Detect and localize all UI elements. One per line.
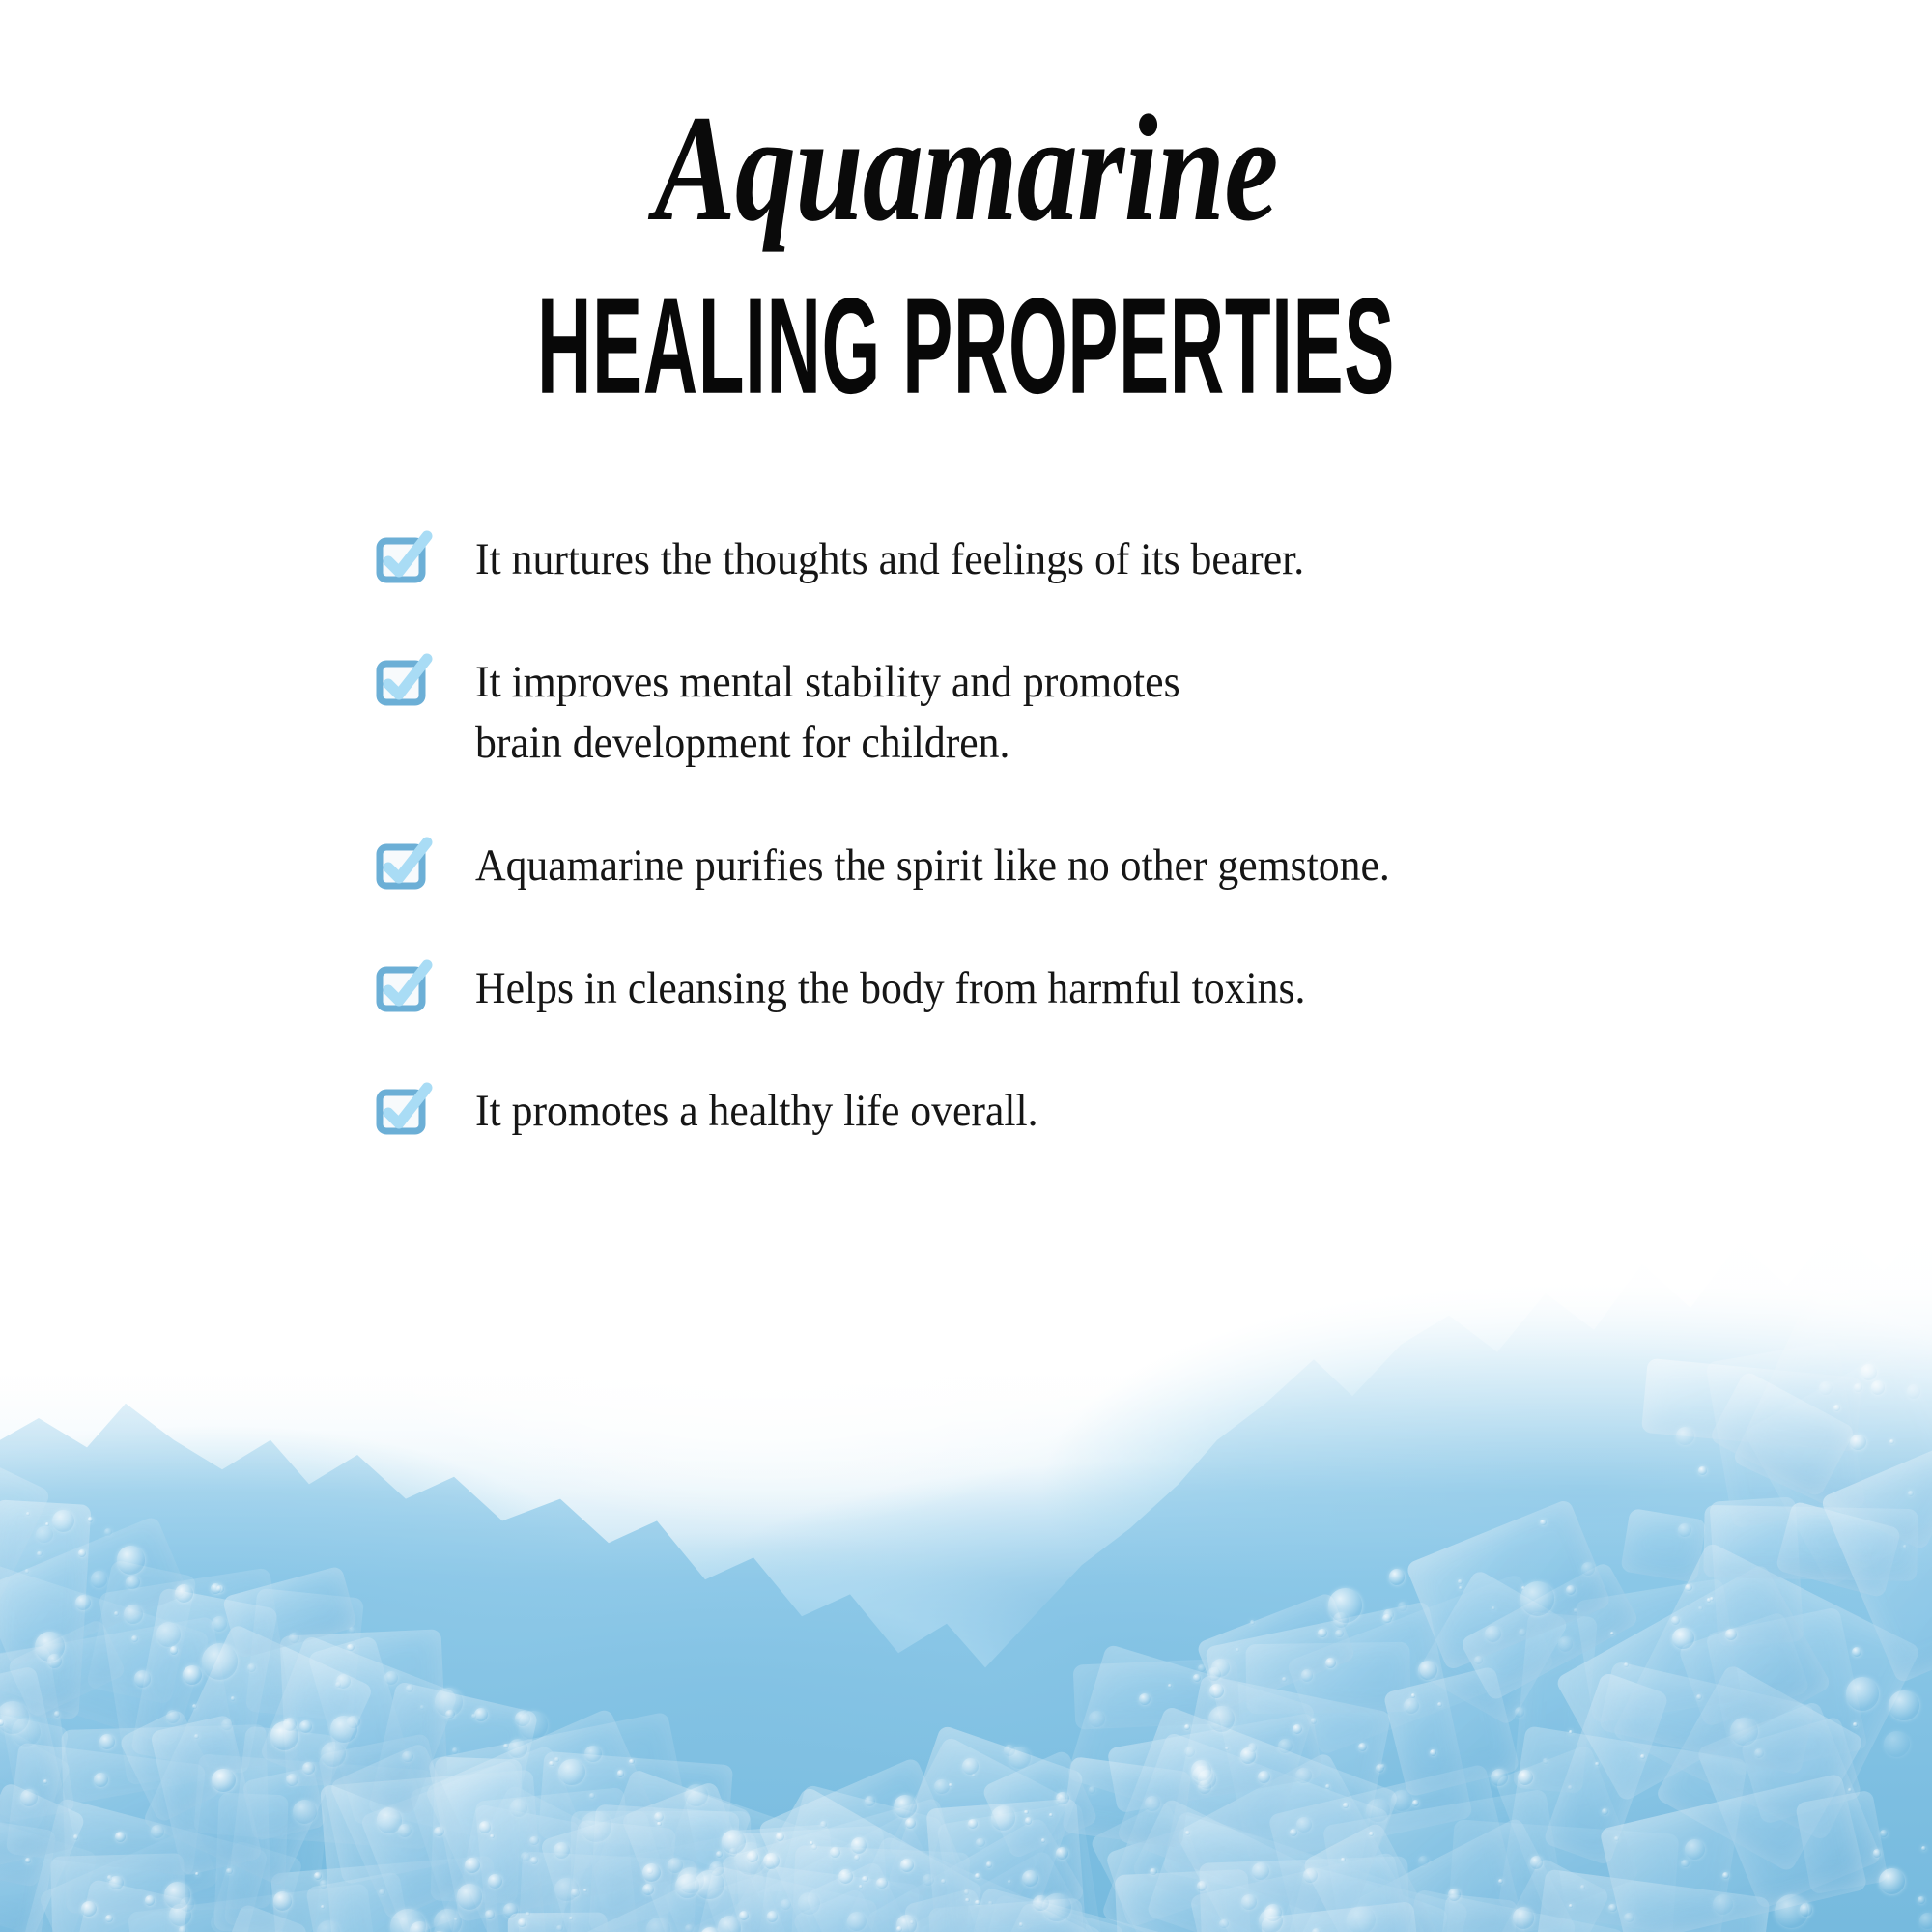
ice-bubble xyxy=(302,1762,315,1775)
ice-bubble xyxy=(1369,1832,1374,1836)
ice-bubble xyxy=(54,1711,61,1718)
poster-canvas: Aquamarine HEALING PROPERTIES It nurture… xyxy=(0,0,1932,1932)
ice-bubble xyxy=(1846,1677,1880,1711)
ice-bubble xyxy=(716,1851,723,1858)
ice-bubble xyxy=(685,1924,694,1932)
ice-bubble xyxy=(1022,1870,1038,1887)
ice-bubble xyxy=(289,1633,299,1643)
ice-bubble xyxy=(1671,1616,1680,1625)
ice-bubble xyxy=(1448,1889,1461,1901)
ice-bubble xyxy=(722,1830,746,1854)
ice-bubble xyxy=(900,1859,914,1872)
ice-bubble xyxy=(474,1708,488,1721)
ice-bubble xyxy=(1921,1846,1926,1851)
ice-bubble xyxy=(78,1549,86,1557)
list-item-label: Helps in cleansing the body from harmful… xyxy=(475,958,1305,1019)
ice-bubble xyxy=(286,1774,298,1786)
ice-bubble xyxy=(1219,1919,1229,1929)
ice-bubble xyxy=(923,1874,934,1886)
ice-bubble xyxy=(905,1818,916,1829)
ice-bubble xyxy=(1236,1648,1239,1652)
list-item-label: Aquamarine purifies the spirit like no o… xyxy=(475,836,1390,896)
ice-bubble xyxy=(1318,1629,1326,1637)
ice-bubble xyxy=(1624,1913,1634,1922)
ice-bubble xyxy=(12,1718,41,1747)
ice-bubble xyxy=(151,1825,164,1838)
healing-properties-list: It nurtures the thoughts and feelings of… xyxy=(377,529,1864,1142)
ice-bubble xyxy=(581,1811,611,1841)
ice-bubble xyxy=(1518,1770,1533,1785)
ice-bubble xyxy=(521,1852,529,1861)
ice-bubble xyxy=(1474,1656,1483,1664)
ice-bubble xyxy=(1290,1829,1297,1836)
ice-bubble xyxy=(145,1895,156,1906)
ice-bubble xyxy=(231,1696,236,1701)
ice-bubble xyxy=(1602,1808,1608,1815)
ice-bubble xyxy=(685,1784,708,1807)
ice-bubble xyxy=(739,1911,749,1920)
ice-bubble xyxy=(384,1671,398,1685)
ice-bubble xyxy=(1278,1739,1293,1753)
ice-bubble xyxy=(115,1832,126,1842)
ice-bubble xyxy=(170,1646,178,1654)
ice-bubble xyxy=(647,1868,653,1874)
ice-bubble xyxy=(212,1616,227,1632)
ice-bubble xyxy=(479,1821,492,1833)
ice-bubble xyxy=(1519,1629,1526,1636)
ice-bubble xyxy=(1259,1909,1283,1932)
ice-bubble xyxy=(1198,1664,1206,1672)
ice-bubble xyxy=(1041,1838,1045,1842)
ice-bubble xyxy=(1873,1849,1882,1858)
ice-bubble xyxy=(847,1912,867,1931)
ice-bubble xyxy=(1312,1928,1321,1932)
checkbox-checked-icon xyxy=(377,1085,431,1139)
ice-bubble xyxy=(862,1876,868,1883)
ice-bubble xyxy=(36,1526,53,1544)
ice-bubble xyxy=(554,1878,578,1901)
ice-bubble xyxy=(510,1799,527,1816)
ice-bubble xyxy=(1382,1614,1391,1623)
ice-bubble xyxy=(1089,1786,1096,1794)
ice-bubble xyxy=(519,1711,548,1740)
ice-bubble xyxy=(1730,1718,1758,1746)
ice-bubble xyxy=(195,1872,199,1876)
ice-bubble xyxy=(1566,1585,1576,1595)
ice-bubble xyxy=(349,1627,355,1634)
list-item: Helps in cleansing the body from harmful… xyxy=(377,958,1864,1019)
ice-bubble xyxy=(1185,1831,1190,1835)
ice-bubble xyxy=(105,1915,113,1922)
ice-bubble xyxy=(1458,1579,1463,1584)
ice-bubble xyxy=(556,1925,562,1931)
ice-bubble xyxy=(221,1719,233,1731)
ice-bubble xyxy=(859,1885,863,1889)
ice-bubble xyxy=(1853,1722,1857,1726)
ice-bubble xyxy=(1833,1405,1840,1411)
ice-bubble xyxy=(617,1770,625,1777)
ice-bubble xyxy=(20,1789,39,1807)
ice-bubble xyxy=(1250,1620,1255,1625)
ice-bubble xyxy=(1595,1762,1600,1767)
ice-bubble xyxy=(321,1905,325,1909)
ice-bubble xyxy=(646,1918,670,1932)
ice-bubble xyxy=(156,1622,181,1646)
ice-bubble xyxy=(1296,1817,1312,1833)
ice-bubble xyxy=(212,1769,236,1793)
ice-bubble xyxy=(1530,1856,1544,1869)
ice-bubble xyxy=(134,1670,151,1687)
ice-bubble xyxy=(1311,1718,1317,1723)
ice-bubble xyxy=(270,1721,298,1749)
ice-bubble xyxy=(1042,1893,1071,1922)
ice-bubble xyxy=(1498,1879,1503,1884)
ice-bubble xyxy=(104,1528,112,1536)
ice-bubble xyxy=(549,1761,554,1767)
page-header: Aquamarine HEALING PROPERTIES xyxy=(0,93,1932,400)
ice-bubble xyxy=(273,1891,292,1910)
ice-bubble xyxy=(569,1917,573,1920)
ice-bubble xyxy=(1880,1830,1888,1837)
ice-bubble xyxy=(1819,1381,1833,1395)
ice-bubble xyxy=(811,1844,817,1850)
ice-bubble xyxy=(465,1858,480,1873)
ice-bubble xyxy=(1150,1868,1156,1875)
ice-bubble xyxy=(975,1900,980,1906)
ice-bubble xyxy=(293,1800,317,1824)
ice-bubble xyxy=(934,1779,950,1795)
ice-bubble xyxy=(988,1901,993,1906)
ice-bubble xyxy=(117,1546,145,1574)
ice-bubble xyxy=(88,1517,94,1522)
ice-bubble xyxy=(1713,1894,1733,1915)
ice-bubble xyxy=(247,1663,256,1672)
ice-bubble xyxy=(518,1918,526,1927)
ice-bubble xyxy=(1282,1677,1287,1682)
ice-bubble xyxy=(965,1898,970,1903)
ice-bubble xyxy=(490,1834,494,1838)
ice-bubble xyxy=(894,1795,917,1818)
ice-bubble xyxy=(1459,1586,1463,1590)
ice-bubble xyxy=(1879,1868,1905,1894)
ice-bubble xyxy=(1168,1684,1172,1688)
ice-bubble xyxy=(1681,1860,1689,1867)
ice-bubble xyxy=(964,1889,970,1895)
checkbox-checked-icon xyxy=(377,839,431,894)
ice-bubble xyxy=(629,1759,635,1765)
ice-bubble xyxy=(668,1858,683,1873)
ice-bubble xyxy=(949,1783,953,1788)
ice-bubble xyxy=(854,1855,860,1861)
ice-bubble xyxy=(976,1838,984,1847)
ice-bubble xyxy=(986,1861,993,1868)
ice-bubble xyxy=(1614,1836,1619,1841)
ice-bubble xyxy=(452,1747,458,1753)
ice-bubble xyxy=(1325,1658,1336,1668)
list-item-label: It improves mental stability and promote… xyxy=(475,652,1180,774)
ice-bubble xyxy=(1193,1674,1200,1681)
ice-bubble xyxy=(1889,1690,1918,1720)
ice-bubble xyxy=(1009,1747,1031,1769)
ice-bubble xyxy=(94,1773,108,1787)
ice-bubble xyxy=(910,1920,914,1924)
ice-bubble xyxy=(435,1688,463,1716)
ice-bubble xyxy=(991,1805,1016,1831)
ice-bubble xyxy=(1610,1632,1614,1635)
ice-bubble xyxy=(1376,1764,1384,1773)
ice-bubble xyxy=(1184,1747,1195,1757)
ice-bubble xyxy=(457,1884,482,1909)
ice-bubble xyxy=(379,1889,385,1896)
ice-bubble xyxy=(0,1719,4,1725)
ice-bubble xyxy=(183,1665,202,1685)
ice-bubble xyxy=(25,1569,30,1574)
ice-cubes-photo xyxy=(0,1198,1932,1932)
ice-bubble xyxy=(1569,1730,1573,1734)
checkbox-checked-icon xyxy=(377,533,431,587)
ice-bubbles-layer xyxy=(0,1198,1932,1932)
ice-bubble xyxy=(654,1812,664,1822)
ice-bubble xyxy=(406,1685,413,1692)
ice-bubble xyxy=(851,1837,867,1853)
ice-bubble xyxy=(1209,1684,1224,1698)
ice-bubble xyxy=(1698,1466,1707,1475)
ice-bubble xyxy=(47,1654,61,1667)
ice-bubble xyxy=(175,1584,193,1603)
ice-bubble xyxy=(1569,1904,1574,1909)
ice-bubble xyxy=(1404,1698,1419,1714)
ice-bubble xyxy=(1325,1784,1330,1789)
ice-bubble xyxy=(1412,1800,1419,1806)
ice-bubble xyxy=(1358,1743,1367,1751)
ice-bubble xyxy=(1240,1747,1257,1764)
ice-bubble xyxy=(776,1833,784,1841)
ice-bubble xyxy=(767,1911,779,1922)
ice-bubble xyxy=(1574,1608,1577,1612)
ice-bubble xyxy=(420,1705,425,1710)
ice-bubble xyxy=(1698,1606,1703,1611)
ice-bubble xyxy=(1252,1862,1269,1880)
ice-bubble xyxy=(91,1571,108,1588)
ice-bubble xyxy=(896,1926,902,1932)
ice-bubble xyxy=(1341,1858,1345,1861)
ice-bubble xyxy=(1850,1435,1865,1450)
ice-bubble xyxy=(1398,1602,1406,1610)
ice-bubble xyxy=(554,1842,570,1859)
ice-bubble xyxy=(589,1793,595,1799)
ice-bubble xyxy=(314,1872,322,1880)
ice-bubble xyxy=(798,1892,820,1915)
ice-bubble xyxy=(657,1822,662,1827)
ice-bubble xyxy=(1754,1748,1764,1758)
ice-bubble xyxy=(1775,1894,1808,1928)
ice-bubble xyxy=(1608,1904,1616,1912)
ice-bubble xyxy=(1025,1817,1033,1825)
ice-bubble xyxy=(1672,1628,1694,1650)
ice-bubble xyxy=(1871,1380,1885,1394)
ice-bubble xyxy=(941,1879,946,1884)
ice-bubble xyxy=(1139,1693,1151,1705)
ice-bubble xyxy=(503,1903,518,1918)
ice-bubble xyxy=(583,1889,587,1892)
ice-bubble xyxy=(1391,1790,1412,1811)
ice-bubble xyxy=(299,1720,312,1733)
ice-bubble xyxy=(114,1611,119,1616)
ice-bubble xyxy=(508,1739,527,1758)
ice-bubble xyxy=(718,1916,742,1932)
ice-bubble xyxy=(1919,1913,1932,1928)
page-title: Aquamarine xyxy=(193,93,1739,245)
ice-bubble xyxy=(1225,1747,1229,1750)
ice-bubble xyxy=(1335,1630,1344,1638)
ice-bubble xyxy=(1725,1629,1737,1640)
ice-bubble xyxy=(1056,1792,1069,1805)
ice-bubble xyxy=(962,1758,979,1775)
ice-bubble xyxy=(1520,1581,1554,1615)
ice-bubble xyxy=(1241,1894,1257,1910)
ice-bubble xyxy=(124,1605,143,1624)
ice-bubble xyxy=(1710,1597,1714,1601)
ice-bubble xyxy=(194,1734,199,1739)
ice-bubble xyxy=(1293,1724,1302,1734)
ice-bubble xyxy=(1685,1839,1705,1860)
ice-bubble xyxy=(1580,1885,1585,1889)
ice-bubble xyxy=(1676,1427,1694,1445)
ice-bubble xyxy=(1854,1383,1862,1392)
ice-bubble xyxy=(126,1576,139,1589)
ice-bubble xyxy=(1696,1694,1702,1700)
page-subtitle: HEALING PROPERTIES xyxy=(367,278,1565,414)
ice-bubble xyxy=(335,1682,341,1688)
ice-bubble xyxy=(1347,1906,1376,1932)
list-item: Aquamarine purifies the spirit like no o… xyxy=(377,836,1864,896)
ice-bubble xyxy=(530,1857,538,1864)
ice-bubble xyxy=(838,1869,853,1884)
ice-bubble xyxy=(1198,1780,1211,1794)
list-item-label: It promotes a healthy life overall. xyxy=(475,1081,1038,1142)
ice-bubble xyxy=(1418,1661,1437,1680)
ice-bubble xyxy=(1208,1706,1235,1732)
ice-bubble xyxy=(1049,1813,1054,1818)
ice-bubble xyxy=(320,1880,327,1888)
ice-bubble xyxy=(73,1834,79,1840)
ice-bubble xyxy=(642,1884,654,1895)
ice-bubble xyxy=(321,1742,346,1767)
ice-bubble xyxy=(695,1870,724,1899)
ice-bubble xyxy=(1145,1796,1159,1810)
ice-bubble xyxy=(330,1716,357,1743)
ice-bubble xyxy=(1207,1667,1221,1681)
ice-bubble xyxy=(1019,1922,1023,1926)
ice-bubble xyxy=(402,1751,412,1762)
ice-bubble xyxy=(226,1868,233,1875)
ice-bubble xyxy=(1418,1856,1429,1866)
ice-bubble xyxy=(166,1710,180,1723)
ice-bubble xyxy=(1008,1880,1011,1884)
ice-bubble xyxy=(434,1827,443,1836)
ice-bubble xyxy=(1491,1769,1508,1786)
ice-bubble xyxy=(52,1510,75,1533)
ice-bubble xyxy=(1303,1868,1318,1883)
list-item: It promotes a healthy life overall. xyxy=(377,1081,1864,1142)
ice-bubble xyxy=(1056,1847,1068,1860)
ice-bubble xyxy=(1540,1520,1546,1525)
ice-bubble xyxy=(876,1878,887,1889)
ice-bubble xyxy=(526,1912,530,1917)
ice-bubble xyxy=(43,1779,47,1783)
ice-bubble xyxy=(1343,1803,1348,1807)
ice-bubble xyxy=(558,1759,584,1785)
ice-bubble xyxy=(317,1920,340,1932)
ice-bubble xyxy=(179,1926,186,1932)
ice-bubble xyxy=(347,1644,355,1652)
ice-bubble xyxy=(968,1819,978,1829)
ice-bubble xyxy=(434,1909,462,1932)
ice-bubble xyxy=(1301,1669,1313,1681)
ice-bubble xyxy=(1568,1785,1573,1790)
ice-bubble xyxy=(1581,1562,1595,1576)
ice-bubble xyxy=(1558,1636,1574,1652)
ice-bubble xyxy=(1366,1799,1389,1822)
ice-bubble xyxy=(781,1899,791,1910)
ice-bubble xyxy=(1024,1810,1028,1814)
ice-bubble xyxy=(1678,1523,1691,1537)
ice-bubble xyxy=(747,1851,758,1862)
ice-bubble xyxy=(1889,1439,1894,1444)
ice-bubble xyxy=(1197,1881,1207,1891)
ice-bubble xyxy=(1848,1788,1852,1792)
ice-bubble xyxy=(1861,1364,1877,1380)
ice-bubble xyxy=(865,1796,875,1806)
ice-bubble xyxy=(1722,1872,1729,1879)
ice-bubble xyxy=(1333,1612,1349,1628)
ice-bubble xyxy=(1515,1707,1525,1718)
ice-bubble xyxy=(75,1595,91,1610)
ice-bubble xyxy=(529,1836,538,1845)
list-item-label: It nurtures the thoughts and feelings of… xyxy=(475,529,1304,590)
ice-bubble xyxy=(1640,1754,1645,1759)
ice-bubble xyxy=(485,1910,494,1918)
ice-bubble xyxy=(1513,1907,1535,1929)
ice-bubble xyxy=(1485,1626,1501,1642)
ice-bubble xyxy=(81,1901,97,1917)
ice-bubble xyxy=(1492,1606,1495,1610)
ice-bubble xyxy=(1543,1758,1548,1763)
ice-bubble xyxy=(25,1858,31,1863)
ice-bubble xyxy=(488,1874,502,1889)
ice-bubble xyxy=(1884,1731,1910,1757)
ice-bubble xyxy=(131,1635,138,1642)
ice-bubble xyxy=(1295,1768,1312,1784)
ice-bubble xyxy=(1908,1491,1914,1496)
ice-bubble xyxy=(1903,1545,1908,1549)
ice-bubble xyxy=(1258,1771,1270,1783)
ice-bubble xyxy=(180,1897,194,1912)
checkbox-checked-icon xyxy=(377,962,431,1016)
ice-bubble xyxy=(1184,1724,1190,1730)
list-item: It improves mental stability and promote… xyxy=(377,652,1864,774)
ice-bubble xyxy=(471,1714,476,1719)
ice-bubble xyxy=(975,1873,980,1879)
ice-bubble xyxy=(398,1824,412,1837)
ice-bubble xyxy=(763,1853,780,1869)
ice-bubble xyxy=(26,1512,30,1516)
ice-bubble xyxy=(1685,1584,1691,1591)
ice-bubble xyxy=(584,1746,602,1763)
ice-bubble xyxy=(972,1774,976,1777)
list-item: It nurtures the thoughts and feelings of… xyxy=(377,529,1864,590)
ice-bubble xyxy=(1389,1569,1405,1584)
